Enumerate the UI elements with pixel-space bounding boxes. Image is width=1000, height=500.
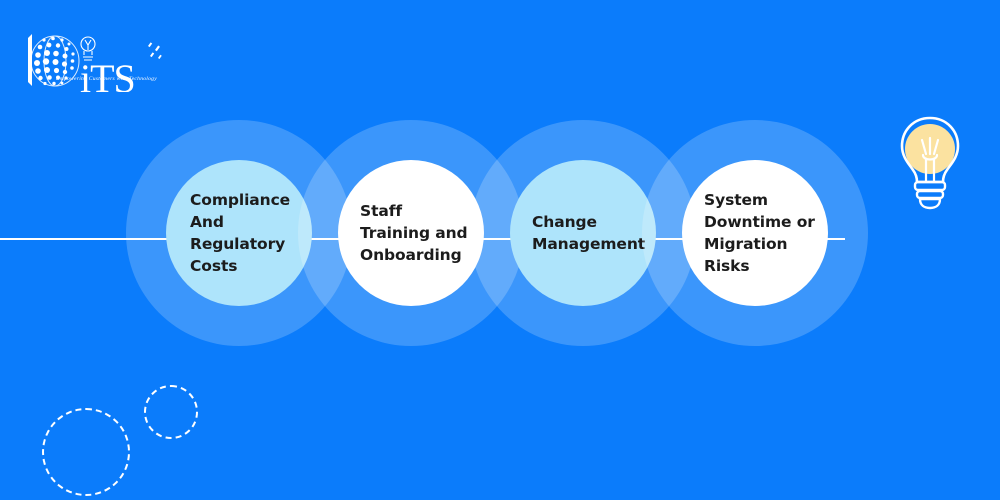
- step-label-4: System Downtime or Migration Risks: [682, 189, 815, 277]
- step-disc-3: Change Management: [510, 160, 656, 306]
- step-label-2: Staff Training and Onboarding: [338, 200, 468, 266]
- step-label-1: Compliance And Regulatory Costs: [166, 189, 290, 277]
- infographic-canvas: iTS Empowering Customers with Technology…: [0, 0, 1000, 500]
- step-label-3: Change Management: [510, 211, 645, 255]
- dits-dotted-sphere-logo: iTS: [28, 34, 162, 92]
- step-disc-2: Staff Training and Onboarding: [338, 160, 484, 306]
- svg-text:iTS: iTS: [80, 56, 135, 92]
- lightbulb-icon: [890, 112, 970, 212]
- dits-logo[interactable]: iTS: [22, 30, 172, 92]
- step-circle-4[interactable]: System Downtime or Migration Risks: [642, 120, 868, 346]
- logo-tagline: Empowering Customers with Technology: [56, 76, 157, 82]
- step-disc-4: System Downtime or Migration Risks: [682, 160, 828, 306]
- step-disc-1: Compliance And Regulatory Costs: [166, 160, 312, 306]
